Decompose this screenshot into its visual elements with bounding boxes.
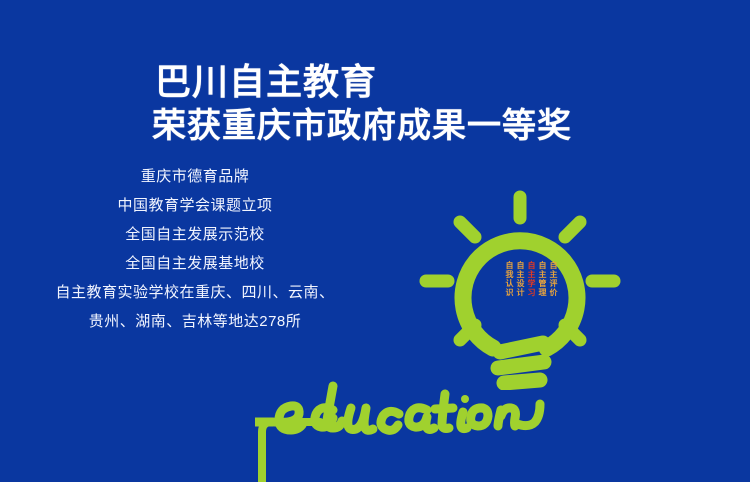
bulb-slogan-column: 自主学习 — [527, 261, 536, 297]
bulb-slogan-columns: 自主评价 自主管理 自主学习 自主设计 自我认识 — [482, 261, 558, 313]
bulb-slogan-column: 自主评价 — [549, 261, 558, 297]
headline-block: 巴川自主教育 荣获重庆市政府成果一等奖 — [150, 60, 620, 148]
credential-line: 贵州、湖南、吉林等地达278所 — [0, 307, 390, 336]
poster-canvas: 巴川自主教育 荣获重庆市政府成果一等奖 重庆市德育品牌 中国教育学会课题立项 全… — [0, 0, 750, 482]
credential-line: 重庆市德育品牌 — [0, 162, 390, 191]
bulb-slogan-column: 自主管理 — [538, 261, 547, 297]
headline-line-2: 荣获重庆市政府成果一等奖 — [152, 104, 620, 148]
bulb-cord-svg — [200, 400, 340, 482]
bulb-slogan-column: 自我认识 — [505, 261, 514, 297]
credentials-block: 重庆市德育品牌 中国教育学会课题立项 全国自主发展示范校 全国自主发展基地校 自… — [0, 162, 390, 336]
credential-line: 中国教育学会课题立项 — [0, 191, 390, 220]
bulb-cord — [200, 400, 340, 482]
bulb-slogan-column: 自主设计 — [516, 261, 525, 297]
headline-line-1: 巴川自主教育 — [155, 60, 620, 104]
credential-line: 全国自主发展示范校 — [0, 220, 390, 249]
credential-line: 自主教育实验学校在重庆、四川、云南、 — [0, 278, 390, 307]
credential-line: 全国自主发展基地校 — [0, 249, 390, 278]
